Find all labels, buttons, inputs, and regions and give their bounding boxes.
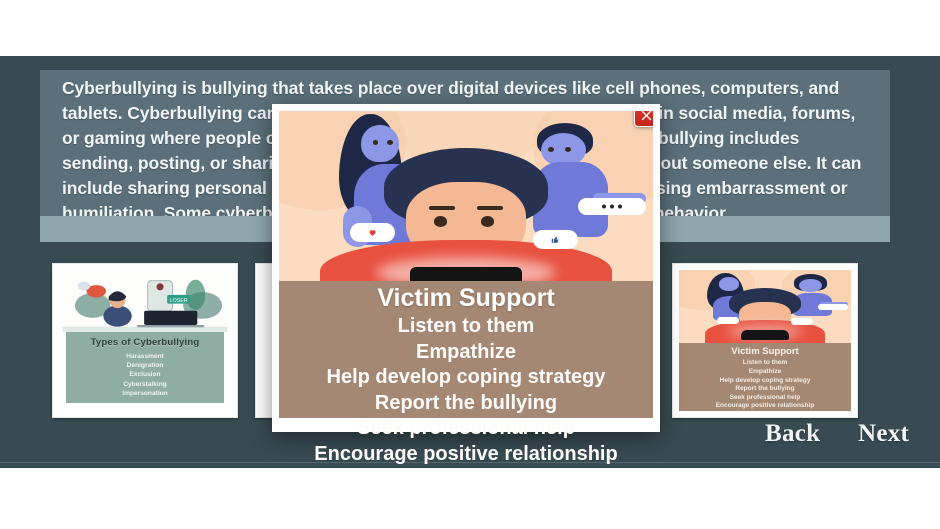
victim-support-item: Report the bullying [679,385,851,394]
thumbnail-types-of-cyberbullying[interactable]: LOSER Types of Cyberbullying Harassment … [52,263,238,418]
close-x-icon [640,111,653,122]
victim-support-item: Seek professional help [679,394,851,403]
victim-support-list: Listen to them Empathize Help develop co… [679,359,851,411]
thumbnail-victim-support[interactable]: Victim Support Listen to them Empathize … [672,263,858,418]
modal-caption-band: Victim Support Listen to them Empathize … [279,281,653,418]
types-item: Impersonation [66,389,224,398]
types-illustration: LOSER [59,270,231,332]
svg-text:LOSER: LOSER [170,298,188,304]
modal-line: Report the bullying [279,391,653,417]
back-button[interactable]: Back [765,420,820,448]
types-caption-band: Types of Cyberbullying Harassment Denigr… [66,332,224,403]
types-item: Harassment [66,352,224,361]
types-item: Cyberstalking [66,380,224,389]
victim-support-title: Victim Support [679,346,851,357]
victim-support-illustration-large [279,111,653,281]
types-item: Exclusion [66,370,224,379]
modal-title: Victim Support [279,283,653,314]
thumbnail-content: Victim Support Listen to them Empathize … [679,270,851,411]
victim-support-item: Listen to them [679,359,851,368]
victim-support-item: Help develop coping strategy [679,377,851,386]
modal-line: Encourage positive relationship [279,442,653,468]
ellipsis-icon [601,204,623,209]
types-list: Harassment Denigration Exclusion Cyberst… [66,352,224,398]
typing-bubble [578,198,645,215]
types-title: Types of Cyberbullying [66,337,224,348]
heart-reaction-bubble [350,223,395,242]
victim-support-item: Encourage positive relationship [679,402,851,411]
modal-line: Help develop coping strategy [279,365,653,391]
victim-support-caption-band: Victim Support Listen to them Empathize … [679,343,851,411]
lightbox-modal: Victim Support Listen to them Empathize … [272,104,660,432]
modal-line: Seek professional help [279,416,653,442]
types-artwork-icon: LOSER [59,270,231,332]
slide-viewer: Cyberbullying is bullying that takes pla… [0,0,940,529]
heart-icon [368,228,377,237]
modal-line: Empathize [279,340,653,366]
like-reaction-bubble [533,230,578,249]
victim-support-illustration-small [679,270,851,343]
next-button[interactable]: Next [858,420,909,448]
close-icon[interactable] [634,111,653,127]
thumbs-up-icon [551,235,560,244]
victim-support-item: Empathize [679,368,851,377]
types-item: Denigration [66,361,224,370]
modal-line: Listen to them [279,314,653,340]
thumbnail-content: LOSER Types of Cyberbullying Harassment … [59,270,231,411]
